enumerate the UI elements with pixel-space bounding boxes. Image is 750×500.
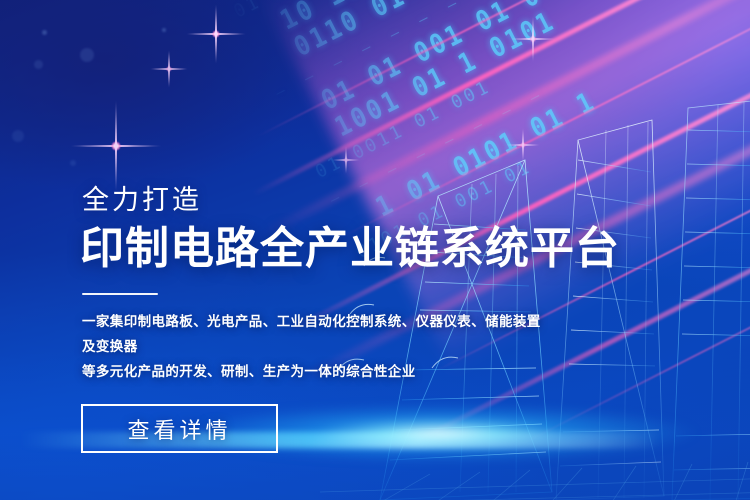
dust-particle <box>34 60 43 69</box>
view-details-button[interactable]: 查看详情 <box>81 404 278 453</box>
dust-particle <box>162 28 166 32</box>
dust-particle <box>80 48 94 62</box>
dust-particle <box>12 130 24 142</box>
hero-banner: — — — — — — — — 01 001 01 01 0 10 1001 1… <box>0 0 750 500</box>
title-divider <box>82 293 158 295</box>
sparkle-star-icon <box>150 50 188 88</box>
dust-particle <box>70 160 76 166</box>
dust-particle <box>42 30 47 35</box>
hero-description-line-2: 等多元化产品的开发、研制、生产为一体的综合性企业 <box>82 359 552 384</box>
hero-description: 一家集印制电路板、光电产品、工业自动化控制系统、仪器仪表、储能装置及变换器 等多… <box>82 309 552 384</box>
hero-content: 全力打造 印制电路全产业链系统平台 一家集印制电路板、光电产品、工业自动化控制系… <box>80 186 640 384</box>
sparkle-star-icon <box>70 100 162 192</box>
page-title: 印制电路全产业链系统平台 <box>80 224 640 273</box>
hero-eyebrow: 全力打造 <box>82 186 640 216</box>
hero-description-line-1: 一家集印制电路板、光电产品、工业自动化控制系统、仪器仪表、储能装置及变换器 <box>82 309 552 359</box>
